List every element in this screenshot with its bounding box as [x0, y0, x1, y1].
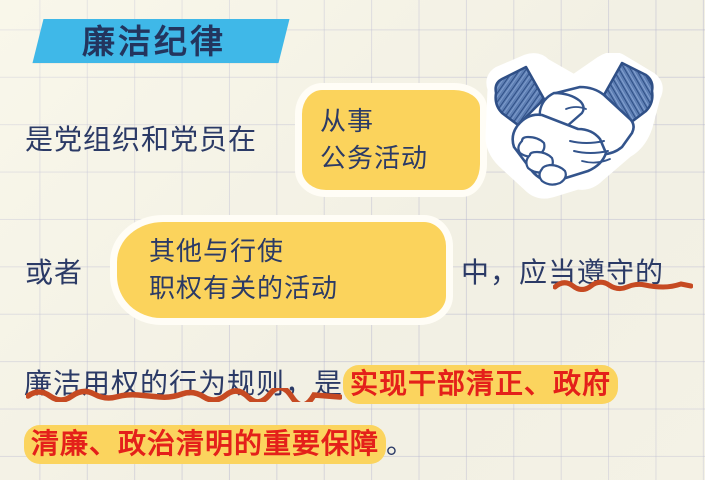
line4-period: 。	[386, 428, 415, 459]
body-text-line4: 清廉、政治清明的重要保障。	[24, 422, 415, 462]
page-title: 廉洁纪律	[82, 20, 302, 64]
sticky-note-congshi-gongwuhuodong: 从事 公务活动	[302, 90, 480, 190]
sticky-note-line: 从事	[320, 103, 480, 140]
sticky-note-line: 职权有关的活动	[149, 270, 446, 307]
wavy-underline-1	[553, 278, 693, 292]
sticky-note-line: 公务活动	[320, 140, 480, 177]
body-text-line1: 是党组织和党员在	[25, 118, 257, 158]
sticky-note-line: 其他与行使	[149, 233, 446, 270]
handshake-icon	[482, 53, 664, 203]
body-text-line2-lead: 或者	[25, 251, 83, 291]
sticky-note-qita-zhiquan-huodong: 其他与行使 职权有关的活动	[117, 222, 446, 318]
line3-highlighted-text: 实现干部清正、政府	[343, 365, 618, 404]
line4-highlighted-text: 清廉、政治清明的重要保障	[24, 425, 386, 464]
wavy-underline-2	[26, 388, 342, 402]
slide-canvas: 廉洁纪律 是党组织和党员在 从事 公务活动	[0, 0, 705, 480]
